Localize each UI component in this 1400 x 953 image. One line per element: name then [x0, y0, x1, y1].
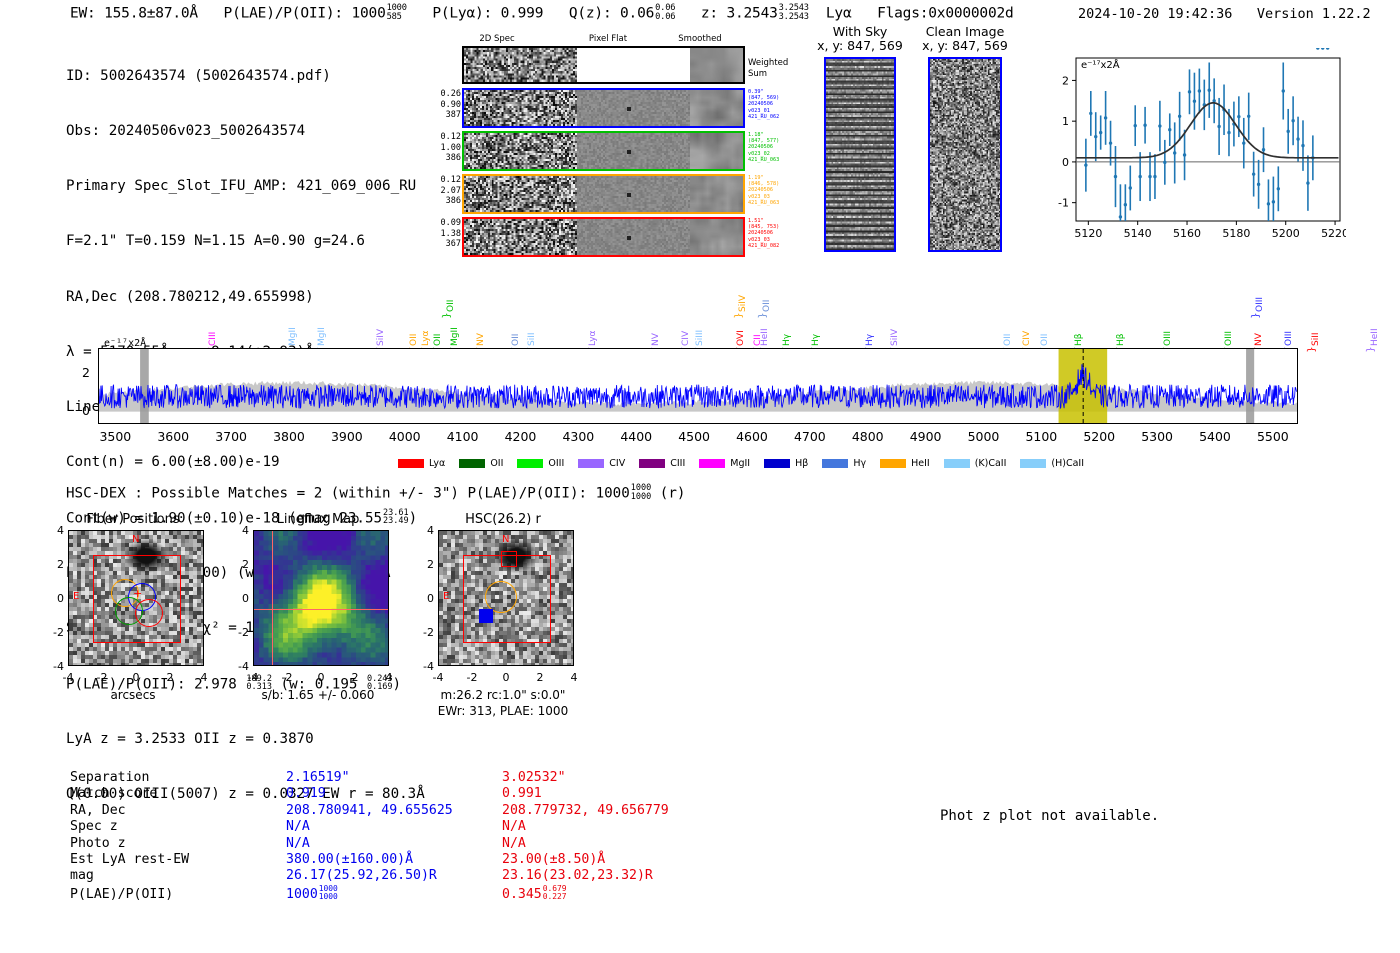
match-marker-blue: [479, 609, 493, 623]
match-table-row: Est LyA rest-EW380.00(±160.00)Å23.00(±8.…: [70, 852, 669, 868]
fiber-left-metric: 1.00: [427, 143, 461, 154]
clean-image-cutout: [928, 57, 1002, 252]
fiber-side-metadata: 1.51"(845, 753)20240506v023_03421_RU_082: [748, 218, 779, 249]
svg-text:-1: -1: [1058, 197, 1069, 210]
hsc-x-tick: 0: [307, 671, 335, 684]
spectrum-line-label: MgII: [450, 306, 460, 346]
legend-swatch: [398, 459, 424, 468]
match-row-value-red: N/A: [502, 819, 526, 835]
match-row-value-blue: 0.919: [286, 786, 502, 802]
spectrum-legend-item: Lyα: [398, 458, 445, 469]
hsc-x-tick: 0: [122, 671, 150, 684]
spec2d-col-title-2: Smoothed: [660, 34, 740, 44]
spectrum-line-label: HeII: [1370, 306, 1380, 346]
target-position-marker: +: [133, 589, 142, 599]
spectrum-x-tick: 5500: [1243, 429, 1303, 444]
match-row-label: Spec z: [70, 819, 286, 835]
hsc-y-tick: 0: [414, 592, 434, 605]
legend-swatch: [517, 459, 543, 468]
match-row-label: Photo z: [70, 836, 286, 852]
match-row-value-red: 23.16(23.02,23.32)R: [502, 868, 653, 884]
header-qz: Q(z): 0.06: [569, 6, 654, 22]
spectrum-x-tick: 3700: [201, 429, 261, 444]
match-row-plae-blue: 100010001000: [286, 885, 502, 903]
fiber-left-metrics: 0.091.38367: [427, 218, 461, 250]
fiber-2dspec: [464, 133, 577, 169]
hsc-x-tick: -2: [88, 671, 116, 684]
hsc-y-tick: 4: [229, 524, 249, 537]
fiber-smoothed: [690, 133, 745, 169]
spectrum-flux-unit: e⁻¹⁷x2Å: [104, 338, 146, 349]
fiber-pixelflat: [577, 219, 690, 255]
info-primary-slot: Primary Spec_Slot_IFU_AMP: 421_069_006_R…: [66, 177, 425, 195]
fiber-left-metric: 0.12: [427, 132, 461, 143]
spectrum-line-label: OII: [511, 306, 521, 346]
match-row-value-red: 3.02532": [502, 770, 566, 786]
spectrum-line-label: Hβ: [1074, 306, 1084, 346]
header-plae-value: 1000: [352, 6, 386, 22]
hsc-y-tick: -2: [44, 626, 64, 639]
spectrum-x-tick: 3800: [259, 429, 319, 444]
plae-blue-range: 10001000: [319, 885, 338, 901]
spectrum-axes: [98, 348, 1298, 424]
hsc-y-tick: -2: [414, 626, 434, 639]
line-profile-flux-unit: e⁻¹⁷x2Å: [1081, 60, 1120, 71]
weighted-sum-2dspec: [464, 48, 577, 82]
hsc-y-tick: -4: [44, 660, 64, 673]
spectrum-line-label: MgII: [288, 306, 298, 346]
match-row-label: mag: [70, 868, 286, 884]
legend-swatch: [764, 459, 790, 468]
spectrum-legend: LyαOIIOIIICIVCIIIMgIIHβHγHeII(K)CaII(H)C…: [398, 453, 1098, 472]
hsc-y-tick: 2: [414, 558, 434, 571]
match-row-value-red: 0.991: [502, 786, 542, 802]
spec2d-fiber-row: [462, 174, 745, 214]
spec2d-col-title-0: 2D Spec: [457, 34, 537, 44]
info-seeing: F=2.1" T=0.159 N=1.15 A=0.90 g=24.6: [66, 232, 425, 250]
fiber-2dspec: [464, 176, 577, 212]
fiber-smoothed: [690, 219, 745, 255]
match-table-row: Photo zN/AN/A: [70, 836, 669, 852]
hsc-x-tick: 2: [341, 671, 369, 684]
match-row-label: RA, Dec: [70, 803, 286, 819]
header-line-name: Lyα: [826, 6, 852, 22]
pixelflat-dot: [627, 150, 631, 154]
hsc-panel-caption: m:26.2 rc:1.0" s:0.0": [383, 688, 623, 702]
spectrum-x-tick: 4300: [548, 429, 608, 444]
hsc-y-tick: 4: [414, 524, 434, 537]
info-obs: Obs: 20240506v023_5002643574: [66, 122, 425, 140]
header-plae-range: 1000585: [387, 4, 407, 22]
fiber-left-metric: 0.09: [427, 218, 461, 229]
header-plae-label: P(LAE)/P(OII):: [224, 6, 343, 22]
spectrum-line-label: SiII: [1311, 306, 1321, 346]
legend-label: (K)CaII: [975, 458, 1007, 469]
fiber-left-metric: 0.90: [427, 100, 461, 111]
source-info-block: ID: 5002643574 (5002643574.pdf) Obs: 202…: [66, 30, 425, 822]
spectrum-x-tick: 5300: [1127, 429, 1187, 444]
match-marker-red: [501, 551, 517, 567]
match-table: Separation2.16519"3.02532"Match score0.9…: [70, 770, 669, 901]
svg-text:5220: 5220: [1321, 227, 1346, 240]
spectrum-line-label: OII: [409, 306, 419, 346]
spectrum-line-label: CIV: [1022, 306, 1032, 346]
fiber-2dspec: [464, 219, 577, 255]
fiber-left-metric: 2.07: [427, 186, 461, 197]
spectrum-x-tick: 5100: [1011, 429, 1071, 444]
hsc-x-tick: 4: [560, 671, 588, 684]
spectrum-legend-item: OII: [459, 458, 503, 469]
legend-label: (H)CaII: [1051, 458, 1084, 469]
hsc-x-tick: -2: [458, 671, 486, 684]
match-row-label: Separation: [70, 770, 286, 786]
spectrum-line-brace-icon: {: [1306, 346, 1317, 352]
hsc-x-tick: -2: [273, 671, 301, 684]
spec2d-fiber-row: [462, 88, 745, 128]
spectrum-x-tick: 4900: [896, 429, 956, 444]
fiber-pixelflat: [577, 133, 690, 169]
match-row-plae-red: 0.3450.6790.227: [502, 885, 567, 903]
spectrum-legend-item: (H)CaII: [1020, 458, 1084, 469]
info-id: ID: 5002643574 (5002643574.pdf): [66, 67, 425, 85]
spectrum-legend-item: Hβ: [764, 458, 808, 469]
legend-swatch: [578, 459, 604, 468]
fiber-left-metric: 0.12: [427, 175, 461, 186]
spectrum-line-label: Hγ: [782, 306, 792, 346]
legend-label: CIII: [670, 458, 685, 469]
svg-text:5200: 5200: [1272, 227, 1300, 240]
line-profile-plot: -1012512051405160518052005220e⁻¹⁷x2Å: [1036, 48, 1346, 253]
spectrum-y-tick: 2: [66, 365, 90, 380]
lineflux-crosshair-v: [272, 531, 273, 665]
spectrum-line-label: OIII: [1284, 306, 1294, 346]
legend-label: OIII: [548, 458, 564, 469]
pixelflat-dot: [627, 193, 631, 197]
hsc-y-tick: -4: [229, 660, 249, 673]
spectrum-line-label: NV: [476, 306, 486, 346]
spectrum-line-label: CIV: [681, 306, 691, 346]
fiber-aperture-circle: [135, 599, 163, 627]
fiber-left-metric: 1.38: [427, 229, 461, 240]
fiber-left-metric: 386: [427, 153, 461, 164]
spectrum-line-label: OII: [1003, 306, 1013, 346]
spectrum-line-label: OIII: [1224, 306, 1234, 346]
fiber-side-metadata: 0.39"(847, 569)20240506v023_01421_RU_062: [748, 89, 779, 120]
spectrum-legend-item: (K)CaII: [944, 458, 1007, 469]
spectrum-x-tick: 5200: [1069, 429, 1129, 444]
match-table-row: Separation2.16519"3.02532": [70, 770, 669, 786]
fiber-left-metric: 367: [427, 239, 461, 250]
svg-text:5180: 5180: [1222, 227, 1250, 240]
fiber-side-line: 421_RU_082: [748, 243, 779, 249]
fiber-side-metadata: 1.18"(847, 577)20240506v023_02421_RU_063: [748, 132, 779, 163]
spectrum-x-tick: 4800: [838, 429, 898, 444]
spectrum-x-tick: 5400: [1185, 429, 1245, 444]
spectrum-line-label: Lyα: [588, 306, 598, 346]
spectrum-x-tick: 3900: [317, 429, 377, 444]
fiber-2dspec: [464, 90, 577, 126]
legend-swatch: [699, 459, 725, 468]
spectrum-x-tick: 4100: [433, 429, 493, 444]
hsc-x-tick: 2: [156, 671, 184, 684]
svg-text:0: 0: [1062, 156, 1069, 169]
spec2d-fiber-row: [462, 217, 745, 257]
spectrum-line-label: Lyα: [421, 306, 431, 346]
fiber-smoothed: [690, 90, 745, 126]
compass-north-label: N: [502, 534, 509, 545]
spec2d-fiber-row: [462, 131, 745, 171]
hsc-y-tick: 0: [229, 592, 249, 605]
match-row-value-red: 208.779732, 49.656779: [502, 803, 669, 819]
plae-red-value: 0.345: [502, 887, 542, 902]
spectrum-line-label: Hγ: [865, 306, 875, 346]
spectrum-line-label: OIII: [1163, 306, 1173, 346]
match-table-row: Match score0.9190.991: [70, 786, 669, 802]
spectrum-x-tick: 3600: [143, 429, 203, 444]
match-row-label: Est LyA rest-EW: [70, 852, 286, 868]
info-z-values: LyA z = 3.2533 OII z = 0.3870: [66, 730, 425, 748]
svg-text:5160: 5160: [1173, 227, 1201, 240]
legend-label: Lyα: [429, 458, 445, 469]
legend-swatch: [880, 459, 906, 468]
match-table-row: mag26.17(25.92,26.50)R23.16(23.02,23.32)…: [70, 868, 669, 884]
hsc-y-tick: 4: [44, 524, 64, 537]
hsc-y-tick: 0: [44, 592, 64, 605]
header-summary-line: EW: 155.8±87.0Å P(LAE)/P(OII): 100010005…: [70, 4, 1014, 22]
fiber-left-metric: 387: [427, 110, 461, 121]
info-radec: RA,Dec (208.780212,49.655998): [66, 288, 425, 306]
match-row-value-blue: 380.00(±160.00)Å: [286, 852, 502, 868]
spectrum-line-label: SiII: [527, 306, 537, 346]
legend-label: Hβ: [795, 458, 808, 469]
hsc-y-tick: 2: [229, 558, 249, 571]
spectrum-line-label: CIII: [208, 306, 218, 346]
weighted-sum-label-line2: Sum: [748, 69, 767, 79]
legend-swatch: [459, 459, 485, 468]
hsc-y-tick: -4: [414, 660, 434, 673]
spectrum-x-tick: 5000: [953, 429, 1013, 444]
legend-label: OII: [490, 458, 503, 469]
header-flags: Flags:0x0000002d: [877, 6, 1013, 22]
plae-blue-value: 1000: [286, 887, 318, 902]
weighted-sum-pixelflat: [577, 48, 690, 82]
match-row-value-red: 23.00(±8.50)Å: [502, 852, 605, 868]
match-table-row-plae: P(LAE)/P(OII)1000100010000.3450.6790.227: [70, 885, 669, 901]
match-table-row: Spec zN/AN/A: [70, 819, 669, 835]
hsc-headline-range: 10001000: [631, 484, 651, 501]
header-qz-range: 0.060.06: [655, 4, 675, 22]
cutout-title: Clean Image: [888, 24, 1042, 39]
legend-label: Hγ: [853, 458, 866, 469]
spectrum-x-tick: 4700: [780, 429, 840, 444]
spectrum-line-label: OII: [1040, 306, 1050, 346]
hsc-panel-caption2: EWr: 313, PLAE: 1000: [383, 704, 623, 718]
spectrum-x-tick: 4400: [606, 429, 666, 444]
version-label: Version 1.22.2: [1257, 6, 1371, 22]
legend-swatch: [639, 459, 665, 468]
hsc-x-tick: 4: [190, 671, 218, 684]
hsc-x-tick: 0: [492, 671, 520, 684]
hsc-headline-tail: (r): [660, 485, 686, 501]
fiber-left-metrics: 0.121.00386: [427, 132, 461, 164]
hsc-panel-image-2: NE: [438, 530, 574, 666]
spectrum-line-label: SiIV: [890, 306, 900, 346]
legend-label: MgII: [730, 458, 750, 469]
spectrum-line-label: Hβ: [1116, 306, 1126, 346]
spectrum-line-label: NV: [1254, 306, 1264, 346]
fiber-pixelflat: [577, 176, 690, 212]
legend-swatch: [822, 459, 848, 468]
spectrum-masked-band: [140, 349, 149, 423]
legend-swatch: [944, 459, 970, 468]
fiber-smoothed: [690, 176, 745, 212]
cutout-subtitle: x, y: 847, 569: [888, 38, 1042, 53]
spectrum-x-tick: 4000: [375, 429, 435, 444]
spectrum-line-label: OVI: [736, 306, 746, 346]
compass-east-label: E: [443, 591, 449, 602]
spectrum-legend-item: Hγ: [822, 458, 866, 469]
header-timestamp-version: 2024-10-20 19:42:36 Version 1.22.2: [1078, 6, 1371, 22]
hsc-y-tick: 2: [44, 558, 64, 571]
spectrum-x-tick: 4600: [722, 429, 782, 444]
header-z: z: 3.2543: [701, 6, 778, 22]
pixelflat-dot: [627, 236, 631, 240]
fiber-left-metric: 0.26: [427, 89, 461, 100]
spectrum-legend-item: MgII: [699, 458, 750, 469]
fiber-side-line: 421_RU_062: [748, 114, 779, 120]
hsc-headline: HSC-DEX : Possible Matches = 2 (within +…: [66, 484, 685, 501]
match-row-value-blue: N/A: [286, 819, 502, 835]
plae-red-range: 0.6790.227: [543, 885, 567, 901]
match-row-value-blue: 26.17(25.92,26.50)R: [286, 868, 502, 884]
svg-text:2: 2: [1062, 74, 1069, 87]
spectrum-line-label: NV: [651, 306, 661, 346]
spectrum-masked-band: [1246, 349, 1254, 423]
spec2d-col-title-1: Pixel Flat: [568, 34, 648, 44]
pixelflat-dot: [627, 107, 631, 111]
spectrum-x-tick: 3500: [85, 429, 145, 444]
info-cont-n: Cont(n) = 6.00(±8.00)e-19: [66, 453, 425, 471]
weighted-sum-label-line1: Weighted: [748, 58, 788, 68]
hsc-x-tick: 4: [375, 671, 403, 684]
spectrum-legend-item: OIII: [517, 458, 564, 469]
fiber-side-line: 421_RU_063: [748, 200, 779, 206]
spectrum-x-tick: 4500: [664, 429, 724, 444]
hsc-panel-image-0: NE+: [68, 530, 204, 666]
fiber-left-metrics: 0.260.90387: [427, 89, 461, 121]
compass-north-label: N: [132, 534, 139, 545]
photz-unavailable-note: Phot z plot not available.: [940, 808, 1159, 824]
svg-text:1: 1: [1062, 115, 1069, 128]
spectrum-legend-item: CIV: [578, 458, 625, 469]
hsc-x-tick: 2: [526, 671, 554, 684]
fiber-left-metrics: 0.122.07386: [427, 175, 461, 207]
fiber-side-metadata: 1.19"(846, 578)20240506v023_03421_RU_063: [748, 175, 779, 206]
hsc-panel-image-1: [253, 530, 389, 666]
legend-label: CIV: [609, 458, 625, 469]
spec2d-weighted-sum-row: [462, 46, 745, 84]
header-plya: P(Lyα): 0.999: [432, 6, 543, 22]
fiber-pixelflat: [577, 90, 690, 126]
legend-label: HeII: [911, 458, 930, 469]
match-row-label: P(LAE)/P(OII): [70, 887, 286, 903]
spectrum-line-label: SiIV: [376, 306, 386, 346]
hsc-y-tick: -2: [229, 626, 249, 639]
header-ew: EW: 155.8±87.0Å: [70, 6, 198, 22]
match-row-label: Match score: [70, 786, 286, 802]
spectrum-legend-item: HeII: [880, 458, 930, 469]
weighted-sum-smoothed: [690, 48, 745, 82]
spectrum-x-tick: 4200: [490, 429, 550, 444]
spectrum-legend-item: CIII: [639, 458, 685, 469]
spectrum-line-label: MgII: [317, 306, 327, 346]
timestamp: 2024-10-20 19:42:36: [1078, 6, 1232, 22]
svg-text:5120: 5120: [1074, 227, 1102, 240]
spectrum-line-label: HeII: [760, 306, 770, 346]
spectrum-y-tick: 0: [66, 403, 90, 418]
spectrum-line-label: SiIII: [695, 306, 705, 346]
match-table-row: RA, Dec208.780941, 49.655625208.779732, …: [70, 803, 669, 819]
svg-text:5140: 5140: [1124, 227, 1152, 240]
with-sky-cutout: [824, 57, 896, 252]
legend-swatch: [1020, 459, 1046, 468]
header-z-range: 3.25433.2543: [779, 4, 809, 22]
spectrum-line-label: Hγ: [811, 306, 821, 346]
match-row-value-blue: 208.780941, 49.655625: [286, 803, 502, 819]
compass-east-label: E: [73, 591, 79, 602]
hsc-headline-text: HSC-DEX : Possible Matches = 2 (within +…: [66, 485, 630, 501]
match-row-value-blue: 2.16519": [286, 770, 502, 786]
spectrum-trace: [99, 349, 1297, 423]
match-row-value-blue: N/A: [286, 836, 502, 852]
match-row-value-red: N/A: [502, 836, 526, 852]
fiber-left-metric: 386: [427, 196, 461, 207]
fiber-side-line: 421_RU_063: [748, 157, 779, 163]
lineflux-crosshair-h: [254, 609, 388, 610]
spectrum-line-brace-icon: {: [1365, 346, 1376, 352]
